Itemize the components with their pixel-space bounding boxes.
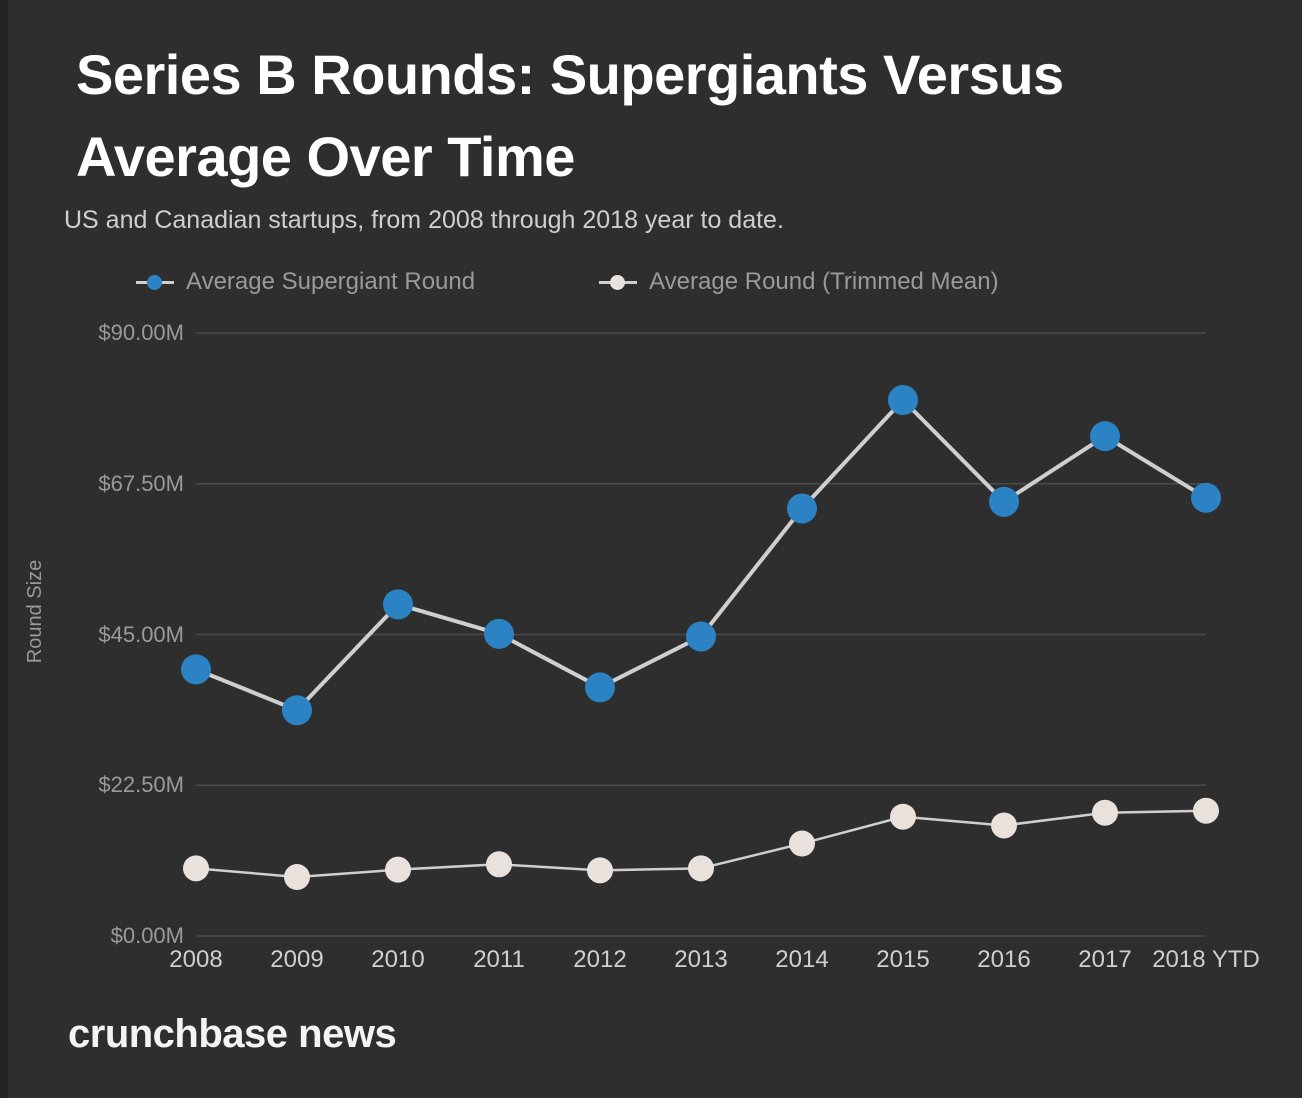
series-line-supergiant — [196, 400, 1206, 710]
brand-logo: crunchbase news — [68, 1012, 396, 1057]
x-axis-tick-label: 2017 — [1078, 946, 1131, 974]
data-point-marker[interactable] — [688, 855, 714, 881]
data-point-marker[interactable] — [282, 695, 312, 725]
data-point-marker[interactable] — [989, 487, 1019, 517]
data-point-marker[interactable] — [1090, 421, 1120, 451]
y-axis-tick-label: $0.00M — [24, 923, 184, 949]
x-axis-tick-label: 2014 — [775, 946, 828, 974]
y-axis-title: Round Size — [24, 560, 47, 663]
data-point-marker[interactable] — [787, 494, 817, 524]
x-axis-tick-label: 2010 — [371, 946, 424, 974]
x-axis-tick-label: 2009 — [270, 946, 323, 974]
data-point-marker[interactable] — [888, 385, 918, 415]
data-point-marker[interactable] — [284, 864, 310, 890]
chart-canvas: Series B Rounds: Supergiants Versus Aver… — [0, 0, 1302, 1098]
y-axis-tick-label: $90.00M — [24, 320, 184, 346]
x-axis-tick-label: 2012 — [573, 946, 626, 974]
data-point-marker[interactable] — [686, 622, 716, 652]
y-axis-tick-label: $45.00M — [24, 622, 184, 648]
data-point-marker[interactable] — [585, 672, 615, 702]
data-point-marker[interactable] — [181, 654, 211, 684]
data-point-marker[interactable] — [587, 857, 613, 883]
line-chart-svg — [8, 0, 1302, 1098]
data-point-marker[interactable] — [890, 804, 916, 830]
x-axis-tick-label: 2018 YTD — [1152, 946, 1260, 974]
data-point-marker[interactable] — [385, 857, 411, 883]
y-axis-tick-label: $67.50M — [24, 471, 184, 497]
data-point-marker[interactable] — [1191, 483, 1221, 513]
x-axis-tick-label: 2008 — [169, 946, 222, 974]
data-point-marker[interactable] — [484, 619, 514, 649]
x-axis-tick-label: 2011 — [473, 946, 525, 974]
plot-area: Round Size $0.00M$22.50M$45.00M$67.50M$9… — [8, 0, 1302, 1098]
data-point-marker[interactable] — [383, 589, 413, 619]
data-point-marker[interactable] — [1193, 798, 1219, 824]
data-point-marker[interactable] — [991, 812, 1017, 838]
x-axis-tick-label: 2016 — [977, 946, 1030, 974]
data-point-marker[interactable] — [183, 855, 209, 881]
y-axis-tick-label: $22.50M — [24, 772, 184, 798]
x-axis-tick-label: 2015 — [876, 946, 929, 974]
data-point-marker[interactable] — [1092, 800, 1118, 826]
data-point-marker[interactable] — [789, 831, 815, 857]
data-point-marker[interactable] — [486, 851, 512, 877]
x-axis-tick-label: 2013 — [674, 946, 727, 974]
